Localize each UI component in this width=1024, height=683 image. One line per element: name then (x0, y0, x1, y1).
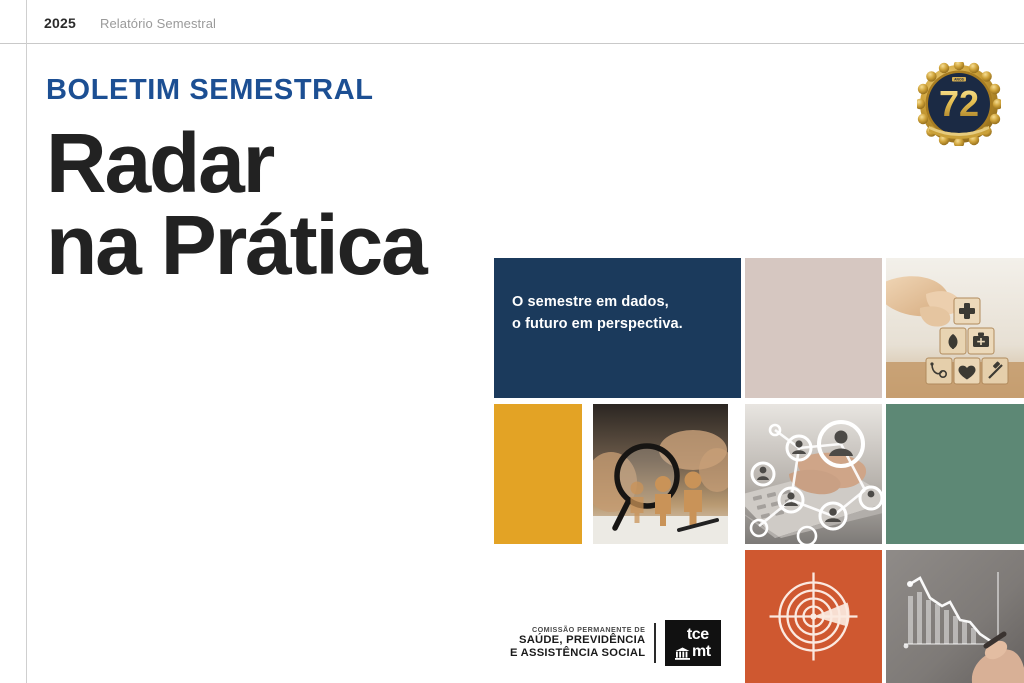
header-year: 2025 (44, 15, 76, 31)
footer-logo-lockup: COMISSÃO PERMANENTE DE SAÚDE, PREVIDÊNCI… (510, 620, 721, 666)
health-blocks-photo (886, 258, 1024, 398)
radar-icon (745, 550, 882, 683)
radar-tile (745, 550, 882, 683)
header-meta: 2025 Relatório Semestral (44, 15, 216, 31)
hero-eyebrow: BOLETIM SEMESTRAL (46, 74, 374, 107)
commission-name: COMISSÃO PERMANENTE DE SAÚDE, PREVIDÊNCI… (510, 626, 645, 660)
anniversary-seal: ANOS 72 (917, 62, 1001, 146)
header-divider-rule (0, 43, 1024, 44)
magnifier-illustration (593, 404, 728, 544)
page-title: Radar na Prática (46, 122, 516, 287)
tce-logo-top-text: tce (687, 627, 709, 643)
magnifier-photo (593, 404, 728, 544)
page-title-line-2: na Prática (46, 204, 516, 286)
green-tile (886, 404, 1024, 544)
declining-chart-illustration (886, 550, 1024, 683)
commission-line-3: E ASSISTÊNCIA SOCIAL (510, 647, 645, 660)
tce-mt-logo: tce mt (665, 620, 721, 666)
gold-tile (494, 404, 582, 544)
tce-logo-bottom-text: mt (692, 644, 711, 660)
anniversary-seal-number: 72 (939, 83, 979, 124)
health-blocks-illustration (886, 258, 1024, 398)
logo-divider (654, 623, 656, 663)
header-document-label: Relatório Semestral (100, 16, 216, 31)
tce-logo-bottom-row: mt (675, 644, 711, 660)
left-margin-rule (26, 0, 27, 683)
anniversary-seal-icon: ANOS 72 (917, 62, 1001, 146)
page-title-line-1: Radar (46, 122, 516, 204)
commission-line-1: COMISSÃO PERMANENTE DE (510, 626, 645, 634)
tagline-line-2: o futuro em perspectiva. (512, 313, 727, 335)
tagline-text: O semestre em dados, o futuro em perspec… (512, 291, 727, 336)
commission-line-2: SAÚDE, PREVIDÊNCIA (510, 634, 645, 647)
network-illustration (745, 404, 882, 544)
chart-photo (886, 550, 1024, 683)
tagline-line-1: O semestre em dados, (512, 291, 727, 313)
network-photo (745, 404, 882, 544)
courthouse-icon (675, 647, 690, 660)
rose-tile (745, 258, 882, 398)
svg-text:ANOS: ANOS (954, 77, 965, 81)
tagline-tile: O semestre em dados, o futuro em perspec… (494, 258, 741, 398)
